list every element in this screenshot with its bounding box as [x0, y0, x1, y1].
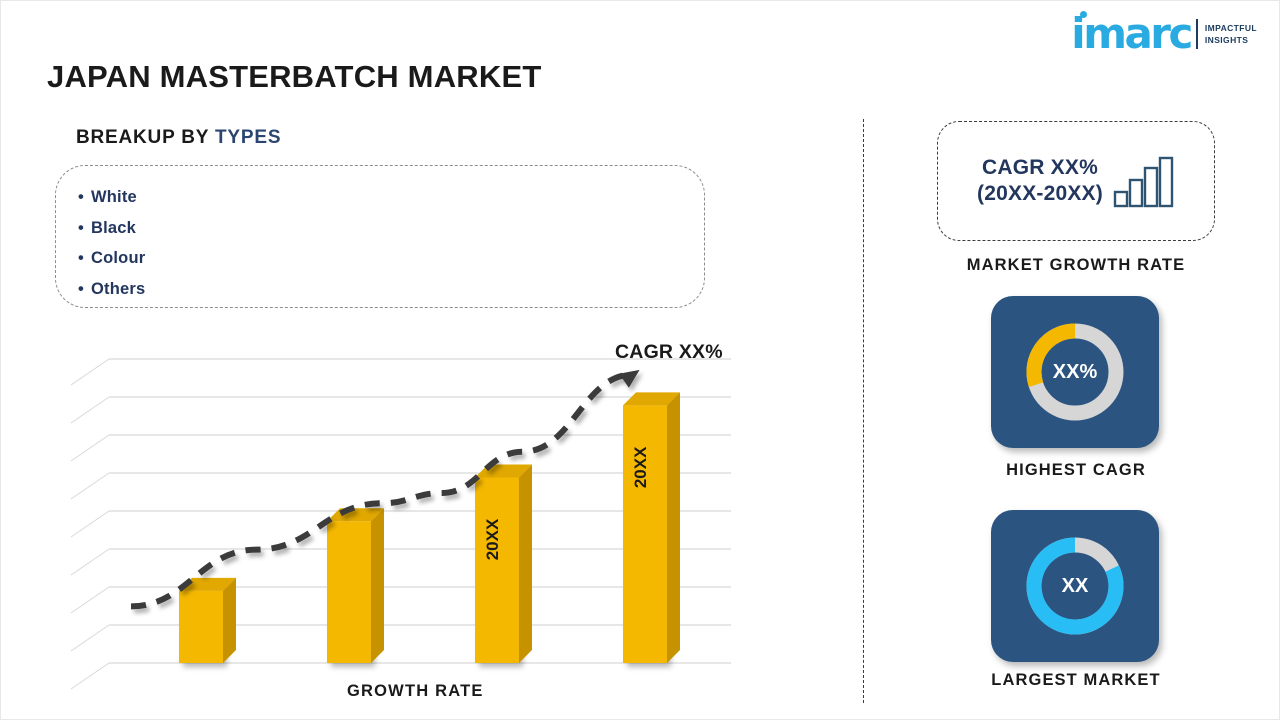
- list-item: •Colour: [78, 243, 704, 274]
- logo-tagline-line1: IMPACTFUL: [1205, 22, 1257, 34]
- chart-svg: 20XX20XX: [61, 331, 751, 691]
- panel-divider: [863, 119, 864, 703]
- logo-divider: [1196, 19, 1198, 49]
- highest-cagr-card: XX%: [991, 296, 1159, 448]
- donut-value: XX%: [1019, 316, 1131, 428]
- list-item-label: White: [91, 188, 137, 206]
- cagr-card-text: CAGR XX% (20XX-20XX): [977, 155, 1103, 206]
- logo-text: imarc: [1071, 9, 1191, 58]
- cagr-period: (20XX-20XX): [977, 181, 1103, 207]
- list-item-label: Black: [91, 219, 136, 237]
- cagr-value: CAGR XX%: [977, 155, 1103, 181]
- imarc-logo: imarc IMPACTFUL INSIGHTS: [1071, 15, 1257, 53]
- breakup-heading-prefix: BREAKUP BY: [76, 127, 215, 148]
- donut-chart: XX: [1019, 530, 1131, 642]
- largest-market-label: LARGEST MARKET: [937, 671, 1215, 690]
- chart-trendline: [131, 370, 640, 606]
- market-growth-rate-card: CAGR XX% (20XX-20XX): [937, 121, 1215, 241]
- market-growth-rate-label: MARKET GROWTH RATE: [937, 256, 1215, 275]
- breakup-heading: BREAKUP BY TYPES: [76, 127, 281, 149]
- page-title: JAPAN MASTERBATCH MARKET: [47, 59, 541, 95]
- breakup-heading-accent: TYPES: [215, 127, 281, 148]
- logo-tagline: IMPACTFUL INSIGHTS: [1205, 22, 1257, 47]
- logo-tagline-line2: INSIGHTS: [1205, 34, 1257, 46]
- bullet-icon: •: [78, 274, 91, 305]
- bullet-icon: •: [78, 182, 91, 213]
- chart-bars: [179, 392, 680, 663]
- donut-chart: XX%: [1019, 316, 1131, 428]
- growth-rate-bar-chart: 20XX20XX: [61, 331, 751, 691]
- logo-wordmark: imarc: [1071, 15, 1191, 53]
- largest-market-card: XX: [991, 510, 1159, 662]
- highest-cagr-label: HIGHEST CAGR: [937, 461, 1215, 480]
- list-item: •Others: [78, 274, 704, 305]
- svg-text:20XX: 20XX: [631, 446, 650, 488]
- bullet-icon: •: [78, 213, 91, 244]
- chart-x-axis-label: GROWTH RATE: [347, 682, 484, 701]
- list-item: •White: [78, 182, 704, 213]
- bar-chart-icon: [1113, 156, 1175, 213]
- chart-cagr-annotation: CAGR XX%: [615, 341, 723, 364]
- list-item: •Black: [78, 213, 704, 244]
- list-item-label: Colour: [91, 249, 145, 267]
- donut-value: XX: [1019, 530, 1131, 642]
- list-item-label: Others: [91, 280, 145, 298]
- breakup-types-box: •White •Black •Colour •Others: [55, 165, 705, 308]
- svg-text:20XX: 20XX: [483, 518, 502, 560]
- bullet-icon: •: [78, 243, 91, 274]
